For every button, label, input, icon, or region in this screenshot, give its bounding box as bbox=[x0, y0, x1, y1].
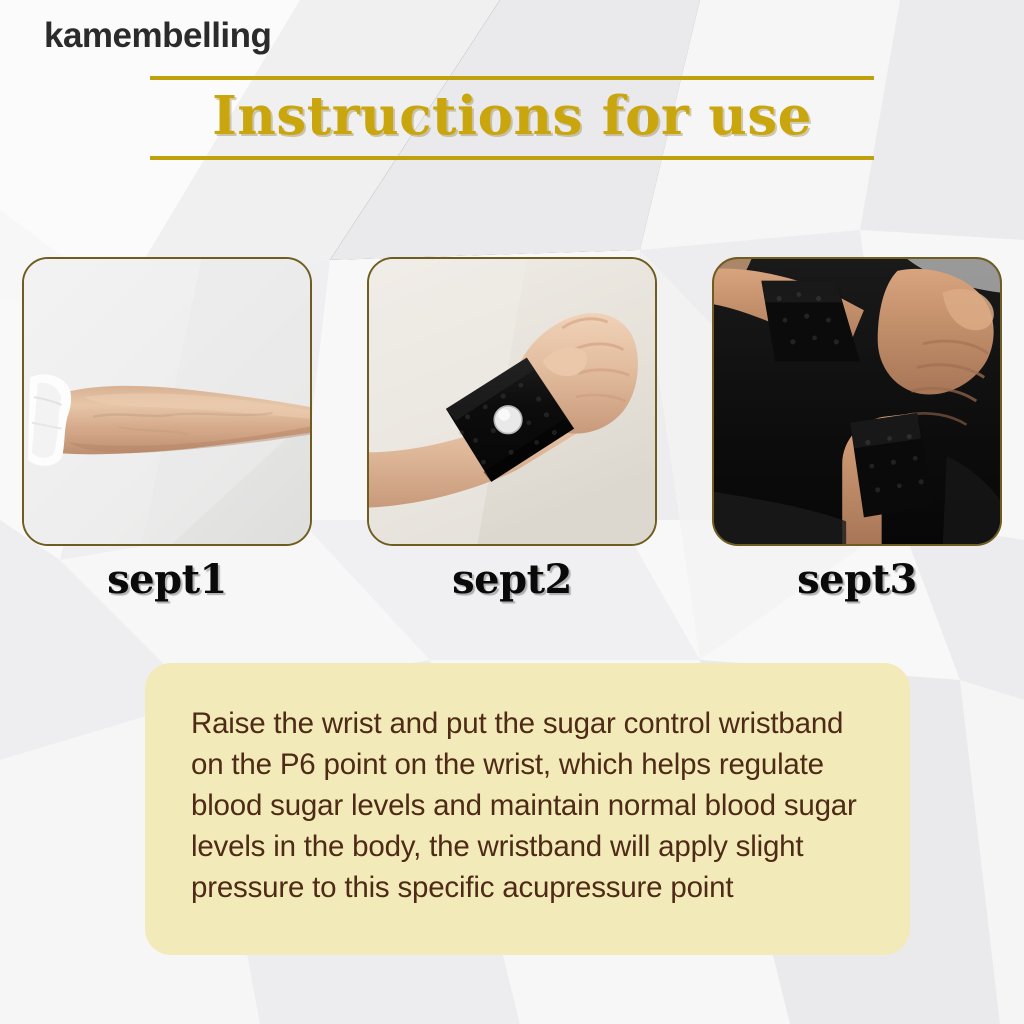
both-wrists-wristbands-photo bbox=[714, 259, 1000, 544]
instructions-poster: kamembelling Instructions for use bbox=[0, 0, 1024, 1024]
description-text: Raise the wrist and put the sugar contro… bbox=[191, 703, 864, 908]
step-photo-1 bbox=[22, 257, 312, 546]
wristband-on-wrist-photo bbox=[369, 259, 655, 544]
step-panel-row bbox=[0, 257, 1024, 547]
page-title: Instructions for use bbox=[150, 80, 874, 156]
page-title-block: Instructions for use bbox=[150, 76, 874, 160]
title-rule-bottom bbox=[150, 156, 874, 160]
step-photo-2 bbox=[367, 257, 657, 546]
brand-watermark: kamembelling bbox=[44, 16, 271, 56]
step-caption-3: sept3 bbox=[712, 556, 1002, 603]
description-callout: Raise the wrist and put the sugar contro… bbox=[145, 663, 910, 955]
step-photo-3 bbox=[712, 257, 1002, 546]
forearm-extended-photo bbox=[24, 259, 310, 544]
step-caption-1: sept1 bbox=[22, 556, 312, 603]
step-caption-2: sept2 bbox=[367, 556, 657, 603]
